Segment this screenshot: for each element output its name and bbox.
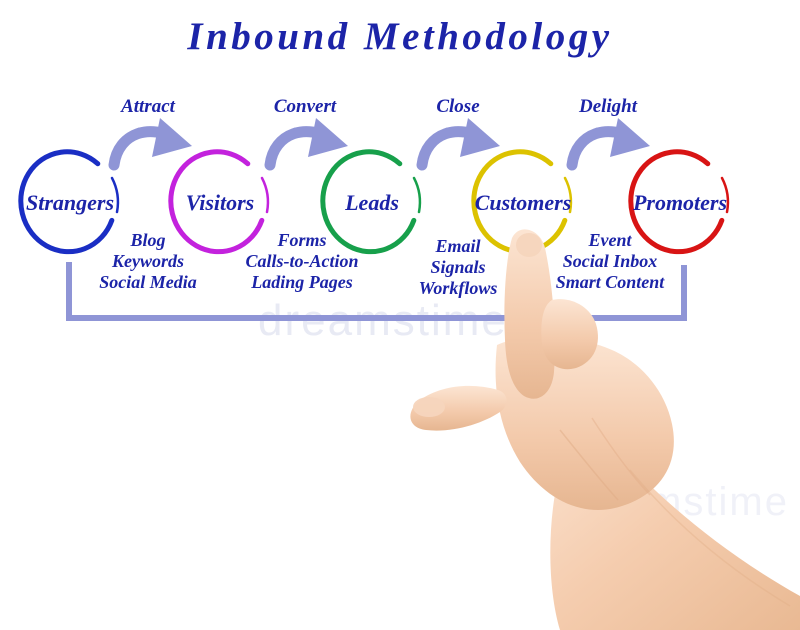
arrow-close [422, 118, 500, 165]
diagram-canvas: Inbound Methodology dreamstime dreamstim… [0, 0, 800, 630]
arrow-attract [114, 118, 192, 165]
stage-label-convert: Convert [274, 96, 336, 118]
tactics-close: Email Signals Workflows [419, 236, 498, 300]
stage-label-attract: Attract [121, 96, 175, 118]
arrow-delight [572, 118, 650, 165]
arrow-convert [270, 118, 348, 165]
tactic-item: Forms [245, 230, 358, 251]
stage-label-delight: Delight [579, 96, 637, 118]
node-label-customers[interactable]: Customers [475, 190, 572, 216]
tactics-convert: Forms Calls-to-Action Lading Pages [245, 230, 358, 294]
tactics-attract: Blog Keywords Social Media [99, 230, 197, 294]
tactic-item: Event [556, 230, 665, 251]
node-label-visitors[interactable]: Visitors [186, 190, 254, 216]
tactic-item: Email [419, 236, 498, 257]
stage-label-close: Close [436, 96, 479, 118]
diagram-graphics [0, 0, 800, 630]
tactic-item: Keywords [99, 251, 197, 272]
tactic-item: Signals [419, 257, 498, 278]
tactic-item: Social Inbox [556, 251, 665, 272]
node-label-strangers[interactable]: Strangers [26, 190, 114, 216]
node-label-leads[interactable]: Leads [345, 190, 399, 216]
tactic-item: Blog [99, 230, 197, 251]
tactic-item: Lading Pages [245, 272, 358, 293]
tactic-item: Smart Content [556, 272, 665, 293]
tactics-delight: Event Social Inbox Smart Content [556, 230, 665, 294]
node-label-promoters[interactable]: Promoters [633, 190, 727, 216]
tactic-item: Workflows [419, 278, 498, 299]
tactic-item: Calls-to-Action [245, 251, 358, 272]
tactic-item: Social Media [99, 272, 197, 293]
